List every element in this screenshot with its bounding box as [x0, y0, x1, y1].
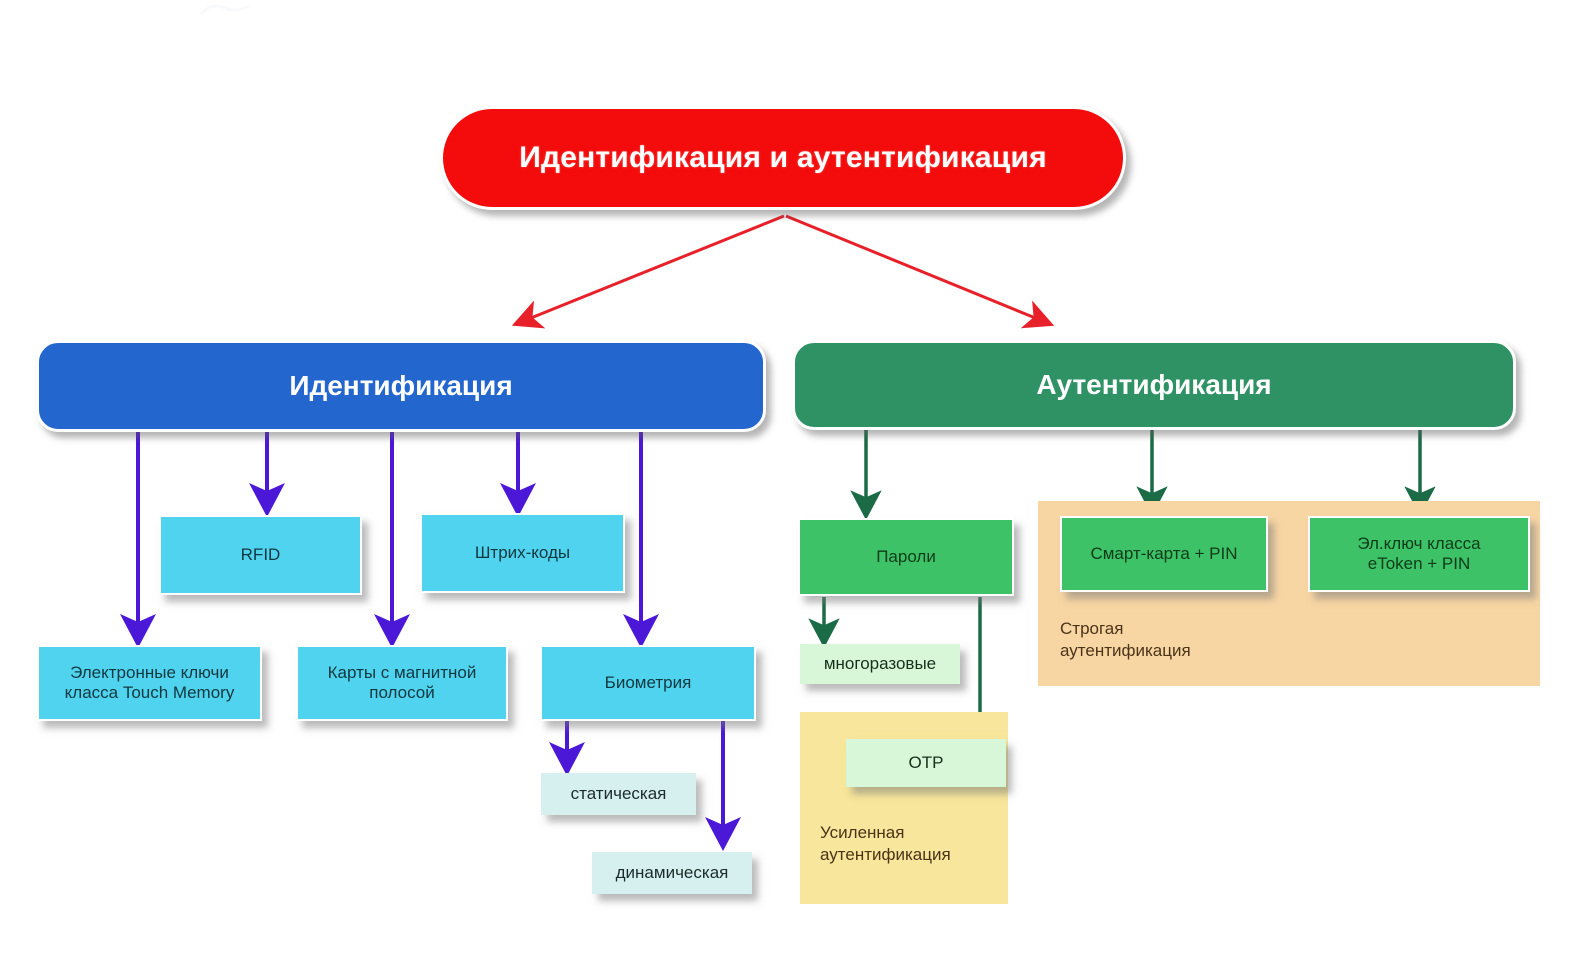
node-static[interactable]: статическая — [541, 773, 696, 815]
connector-root-to-authentication — [786, 216, 1050, 324]
node-magnetic-cards[interactable]: Карты с магнитной полосой — [296, 645, 508, 721]
scan-artifact — [195, 0, 255, 26]
node-magnetic-cards-line1: Карты с магнитной — [328, 663, 477, 683]
node-reusable[interactable]: многоразовые — [800, 644, 960, 684]
node-magnetic-cards-line2: полосой — [369, 683, 435, 703]
node-touch-memory[interactable]: Электронные ключи класса Touch Memory — [37, 645, 262, 721]
node-passwords[interactable]: Пароли — [798, 518, 1014, 596]
node-rfid[interactable]: RFID — [159, 515, 362, 595]
connector-root-to-identification — [516, 216, 784, 324]
diagram-canvas: Строгая аутентификация Усиленная аутенти… — [0, 0, 1571, 960]
node-touch-memory-line1: Электронные ключи — [70, 663, 229, 683]
node-root[interactable]: Идентификация и аутентификация — [440, 106, 1126, 210]
node-touch-memory-line2: класса Touch Memory — [65, 683, 235, 703]
node-etoken-pin-line1: Эл.ключ класса — [1357, 534, 1480, 554]
node-identification[interactable]: Идентификация — [36, 340, 766, 432]
node-barcodes[interactable]: Штрих-коды — [420, 513, 625, 593]
node-smart-card-pin[interactable]: Смарт-карта + PIN — [1060, 516, 1268, 592]
node-etoken-pin[interactable]: Эл.ключ класса eToken + PIN — [1308, 516, 1530, 592]
node-etoken-pin-line2: eToken + PIN — [1368, 554, 1471, 574]
panel-strong-authentication-label: Строгая аутентификация — [1060, 618, 1300, 662]
node-biometrics[interactable]: Биометрия — [540, 645, 756, 721]
node-otp[interactable]: OTP — [846, 739, 1006, 787]
panel-enhanced-authentication-label: Усиленная аутентификация — [820, 822, 1010, 866]
node-authentication[interactable]: Аутентификация — [792, 340, 1516, 430]
node-dynamic[interactable]: динамическая — [592, 852, 752, 894]
